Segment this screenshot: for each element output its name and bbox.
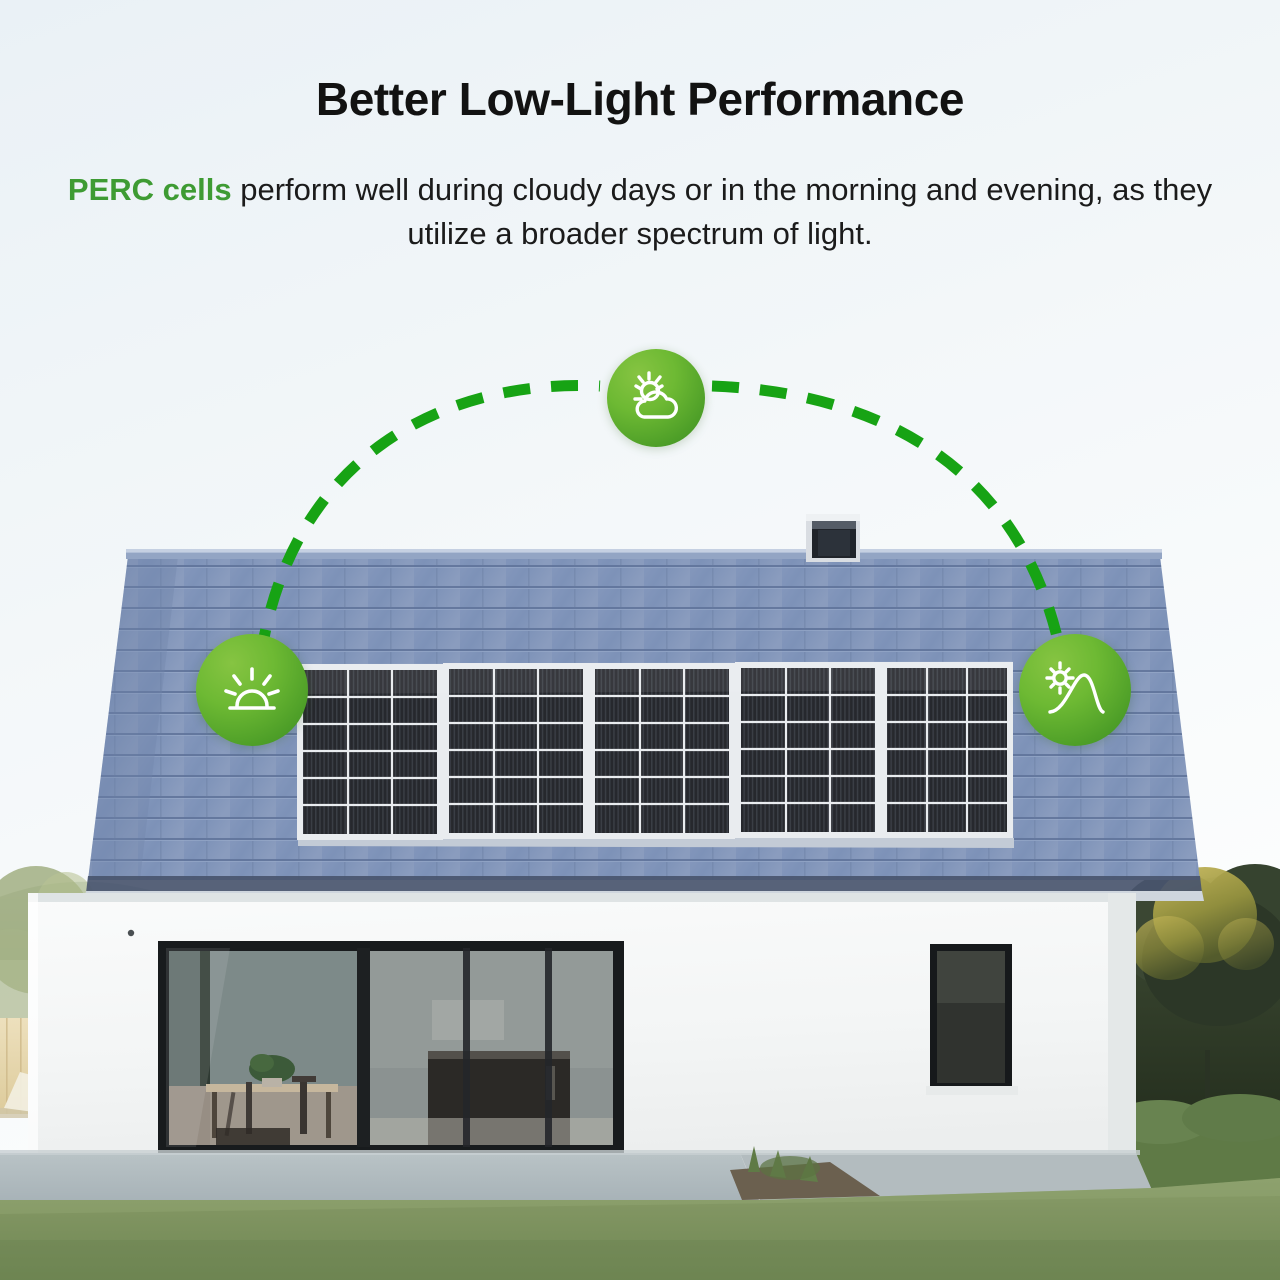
subtitle-highlight: PERC cells [68,172,232,207]
subtitle: PERC cells perform well during cloudy da… [55,168,1225,256]
promo-banner: Better Low-Light Performance PERC cells … [0,0,1280,1280]
peak-curve [1050,675,1103,712]
chimney [806,514,860,562]
page-title: Better Low-Light Performance [0,72,1280,126]
half-sun [237,691,267,706]
sun-rays [1047,663,1073,693]
sunrise-icon[interactable] [196,634,308,746]
subtitle-rest: perform well during cloudy days or in th… [232,172,1212,251]
sun-behind-cloud-icon[interactable] [607,349,705,447]
sunset-curve-icon[interactable] [1019,634,1131,746]
side-window [926,944,1018,1095]
sun-disc [1054,672,1066,684]
sliding-glass-door [158,941,624,1154]
solar-panel-array [296,661,1014,848]
